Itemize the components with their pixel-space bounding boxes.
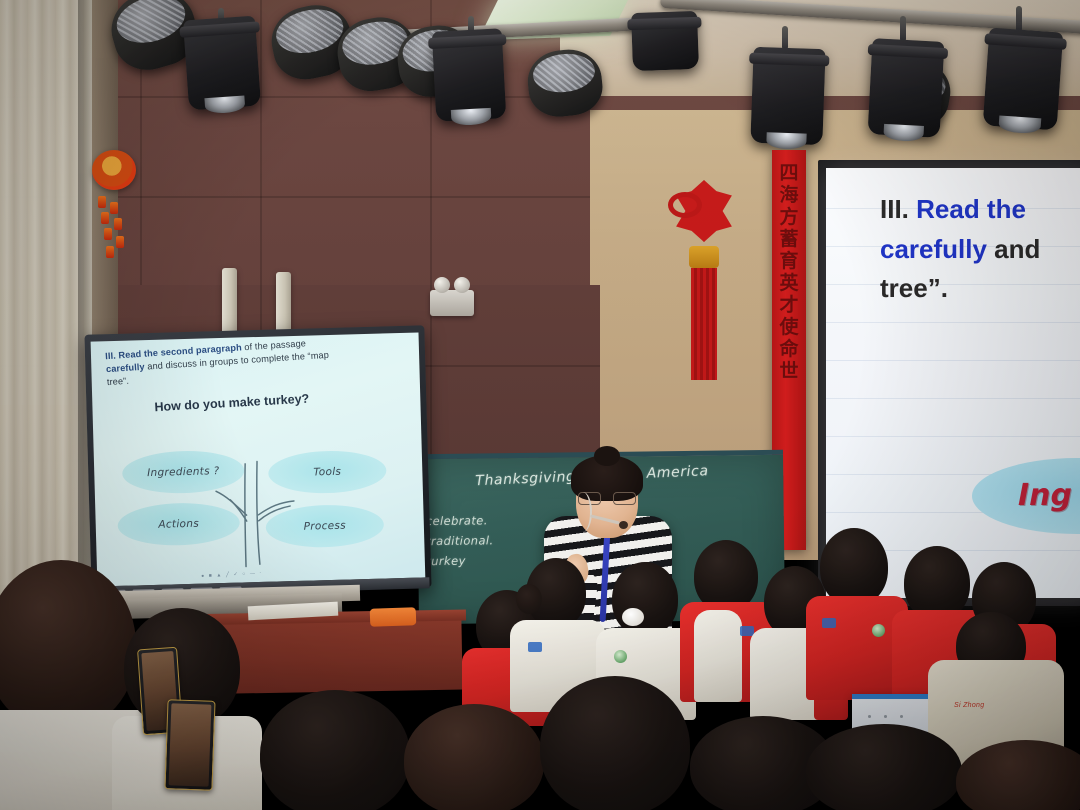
observer-head [404, 704, 544, 810]
uniform-badge [528, 642, 542, 652]
display-bezel: III. Read the second paragraph of the pa… [84, 325, 431, 596]
sr-line2-bold: carefully [880, 234, 987, 264]
light-hanger [900, 16, 906, 42]
sr-line3: tree”. [880, 273, 948, 303]
moving-head-light [983, 28, 1064, 131]
firecracker-disc [92, 150, 136, 190]
banner-char: 使 [779, 318, 798, 337]
firecracker-strand [104, 228, 112, 240]
smartphone[interactable] [164, 699, 215, 791]
light-yoke [868, 44, 948, 59]
headset-microphone-capsule [619, 521, 628, 529]
firecracker-strand [110, 202, 118, 214]
knot-tassel [691, 268, 717, 380]
uniform-badge [822, 618, 836, 628]
student-head [612, 562, 678, 636]
headset-microphone-band [574, 492, 592, 532]
blackboard-vocabulary: celebrate. traditional. turkey [426, 510, 494, 571]
banner-char: 蓄 [779, 230, 798, 249]
student [810, 528, 902, 698]
banner-char: 方 [779, 208, 798, 227]
teacher-hair-bun [594, 446, 620, 466]
blackboard-word: traditional. [426, 530, 494, 551]
chinese-knot-ornament [666, 172, 742, 462]
firecracker-strand [101, 212, 109, 224]
banner-char: 育 [779, 252, 798, 271]
banner-char: 世 [779, 362, 798, 381]
observer-head [956, 740, 1080, 810]
firecracker-ornament [92, 150, 140, 270]
projection-bubble-label: Ing [1018, 478, 1072, 513]
student-hair-bun [516, 584, 542, 614]
uniform-logo [614, 650, 627, 663]
knot-ring [668, 192, 702, 218]
banner-char: 海 [779, 186, 798, 205]
light-hanger [1016, 6, 1022, 32]
emergency-lamp [434, 277, 450, 293]
moving-head-light [183, 16, 261, 111]
blackboard-word: celebrate. [426, 510, 494, 531]
phone-screen [169, 703, 212, 786]
interactive-flat-panel[interactable]: III. Read the second paragraph of the pa… [84, 325, 431, 596]
light-yoke [428, 34, 506, 49]
light-yoke [179, 21, 260, 38]
firecracker-strand [106, 246, 114, 258]
sr-line1-prefix: III. [880, 194, 916, 224]
observer-foreground [404, 704, 554, 810]
map-tree-diagram [91, 332, 426, 586]
observer-head [806, 724, 962, 810]
firecracker-strand [116, 236, 124, 248]
student-uniform-white [694, 610, 742, 702]
uniform-logo [872, 624, 885, 637]
observer-foreground [956, 740, 1080, 810]
projection-slide-heading: III. Read the carefully and tree”. [880, 190, 1080, 309]
firecracker-strand [114, 218, 122, 230]
banner-char: 四 [779, 164, 798, 183]
student-head [904, 546, 970, 620]
podium-orange-item [370, 607, 417, 627]
emergency-lamp [454, 277, 470, 293]
emergency-exit-light [430, 290, 474, 316]
observer-foreground [250, 690, 430, 810]
sr-line2-rest: and [987, 234, 1040, 264]
observer-foreground [806, 724, 966, 810]
light-hanger [782, 26, 788, 50]
lesson-slide: III. Read the second paragraph of the pa… [91, 332, 426, 586]
observer-foreground [540, 676, 700, 810]
classroom-scene: 四 海 方 蓄 育 英 才 使 命 世 III. Read the carefu… [0, 0, 1080, 810]
light-yoke [627, 17, 701, 31]
observer-head [0, 560, 136, 730]
observer-head [540, 676, 690, 810]
knot-gold-band [689, 246, 719, 268]
blackboard-word: turkey [426, 551, 494, 572]
moving-head-light [631, 11, 699, 71]
firecracker-strand [98, 196, 106, 208]
hair-scrunchie [622, 608, 644, 626]
moving-head-light [868, 38, 945, 138]
moving-head-light [432, 28, 507, 122]
banner-char: 命 [779, 340, 798, 359]
uniform-back-text: Si Zhong [954, 702, 984, 709]
moving-head-light [750, 47, 825, 145]
banner-char: 才 [779, 296, 798, 315]
banner-char: 英 [779, 274, 798, 293]
light-yoke [749, 53, 829, 67]
sr-line1-bold: Read the [916, 194, 1026, 224]
light-yoke [984, 33, 1067, 50]
student-head [820, 528, 888, 606]
observer-head [260, 690, 410, 810]
